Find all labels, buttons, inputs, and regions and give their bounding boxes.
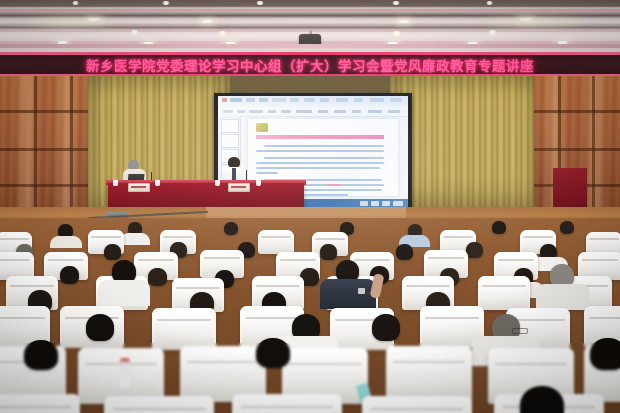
ceiling-downlight	[392, 31, 401, 36]
audience-shoulders	[50, 236, 82, 248]
document-title-rule	[256, 135, 384, 139]
audience-shoulders	[536, 284, 590, 310]
audience-head	[396, 244, 413, 260]
audience-head	[104, 244, 121, 260]
ceiling-downlight	[488, 30, 497, 35]
audience-seating	[0, 218, 620, 413]
audience-shoulders-dark-jacket	[320, 279, 376, 309]
chair[interactable]	[362, 396, 472, 413]
audience-head	[372, 314, 400, 341]
audience-head	[60, 266, 79, 284]
ceiling-downlight	[218, 31, 227, 36]
ceiling-downlight	[130, 30, 139, 35]
document-logo-icon	[256, 123, 268, 132]
chair	[478, 276, 530, 310]
water-cup	[256, 180, 261, 186]
audience-head	[492, 221, 506, 234]
ceiling-light-glow	[22, 14, 118, 30]
audience-shoulders	[120, 233, 150, 245]
ceiling-downlight	[162, 1, 170, 5]
water-cup	[113, 180, 118, 186]
audience-head	[86, 314, 114, 341]
water-cup	[155, 180, 160, 186]
ceiling-strip-light	[200, 20, 214, 23]
water-bottle	[120, 358, 130, 388]
ceiling-downlight	[256, 1, 264, 5]
nameplate-right	[228, 183, 250, 192]
led-banner: 新乡医学院党委理论学习中心组（扩大）学习会暨党风廉政教育专题讲座	[0, 52, 620, 77]
lecture-hall-photo: 新乡医学院党委理论学习中心组（扩大）学习会暨党风廉政教育专题讲座	[0, 0, 620, 413]
audience-head	[148, 268, 167, 286]
audience-head	[24, 340, 58, 370]
audience-head	[320, 244, 337, 260]
side-podium	[553, 168, 587, 212]
audience-head	[590, 338, 620, 370]
audience-head	[466, 242, 483, 258]
audience-head	[560, 221, 574, 234]
ceiling-downlight	[392, 1, 400, 5]
chair[interactable]	[0, 394, 80, 413]
ceiling-trim-band	[0, 9, 620, 11]
audience-head	[256, 338, 290, 368]
banner-text: 新乡医学院党委理论学习中心组（扩大）学习会暨党风廉政教育专题讲座	[0, 52, 620, 77]
ceiling-strip-light	[397, 20, 411, 23]
chair[interactable]	[232, 394, 342, 413]
chair	[258, 230, 294, 254]
nameplate-left	[128, 183, 150, 192]
document-tab-row	[218, 107, 408, 117]
jacket-logo-icon	[358, 288, 365, 294]
chair[interactable]	[104, 396, 214, 413]
reading-glasses-icon	[512, 328, 528, 334]
stage-curtain-right	[390, 76, 540, 218]
wood-wall-left	[0, 76, 90, 218]
chair	[152, 308, 216, 350]
audience-head	[224, 222, 238, 235]
chair[interactable]	[386, 346, 472, 402]
ceiling-downlight	[486, 1, 493, 5]
audience-shoulders	[98, 280, 150, 306]
water-cup	[215, 180, 220, 186]
wall-trim	[0, 44, 620, 48]
ceiling-light-glow	[480, 14, 588, 30]
ceiling-downlight	[72, 1, 79, 5]
